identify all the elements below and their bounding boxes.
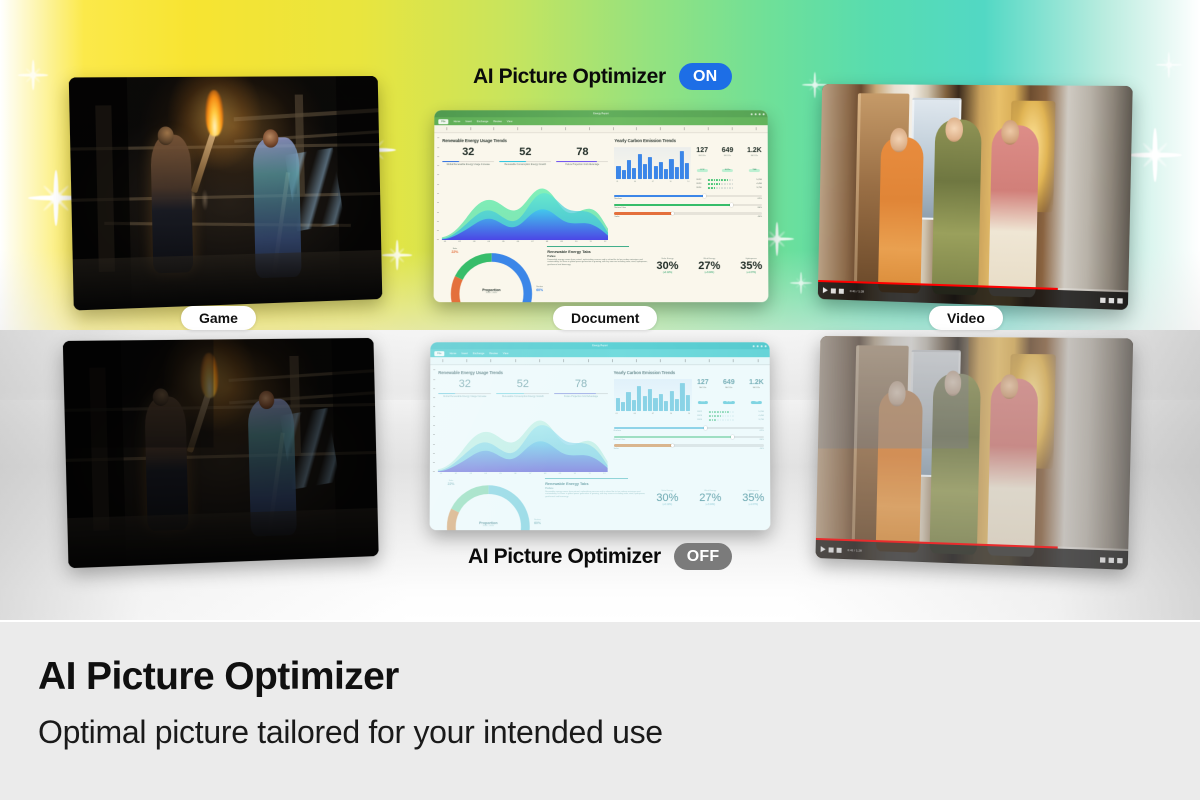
panel-game-off[interactable] bbox=[63, 338, 379, 568]
document-ribbon[interactable]: File Home Insert Exchange Review View bbox=[434, 117, 767, 125]
stat-label: MtCO2e bbox=[723, 387, 735, 389]
table-row: 2022 5,230 bbox=[697, 411, 764, 413]
window-controls[interactable] bbox=[753, 345, 767, 347]
table-row: 2024 3,730 bbox=[697, 419, 764, 421]
stat-chip: TSE bbox=[751, 401, 761, 404]
row-year: 2023 bbox=[697, 415, 706, 417]
carbon-top-row: 01 04 07 10 14 127 MtCO2e bbox=[614, 147, 762, 191]
stat-value: 1.2K bbox=[749, 379, 764, 386]
video-artwork-off: 0:41 / 1:28 bbox=[816, 336, 1134, 570]
document-bottom-row: Proportion 2024 - 2025 Solar 22% Natural… bbox=[430, 476, 771, 530]
panel-video-on[interactable]: 0:41 / 1:28 bbox=[818, 84, 1133, 310]
source-pct: 40% bbox=[758, 216, 762, 218]
status-badge-on: ON bbox=[679, 63, 732, 90]
document-left-column: Renewable Energy Usage Trends 32 Global … bbox=[442, 138, 609, 240]
table-row: 2023 4,430 bbox=[696, 183, 762, 185]
donut-subtitle: 2024 - 2025 bbox=[440, 525, 537, 527]
stat-value: 1.2K bbox=[747, 147, 762, 154]
slice-pct: 60% bbox=[536, 288, 543, 292]
section-title-carbon-trends: Yearly Carbon Emission Trends bbox=[614, 138, 761, 143]
section-title-usage-trends: Renewable Energy Usage Trends bbox=[438, 370, 607, 375]
document-ribbon[interactable]: File Home Insert Exchange Review View bbox=[430, 349, 769, 357]
category-pill-game: Game bbox=[181, 306, 256, 330]
stat-chip: SO2e bbox=[723, 401, 735, 404]
row-value: 3,730 bbox=[756, 187, 761, 189]
area-chart-axis: 01 02 03 04 05 06 07 08 09 10 11 12 bbox=[438, 473, 608, 475]
notes-percent-row: Solar Energy 30% (+0.12%) Wind Energy 27… bbox=[656, 488, 764, 506]
ribbon-tab-exchange[interactable]: Exchange bbox=[477, 120, 489, 123]
ribbon-tab-home[interactable]: Home bbox=[449, 352, 456, 355]
document-right-column: Yearly Carbon Emission Trends 01 bbox=[614, 138, 762, 240]
axis-tick: 07 bbox=[529, 473, 531, 475]
source-name: Natural Gas bbox=[614, 439, 626, 441]
document-dashboard-on: Energy Report File Home Insert Exchange … bbox=[434, 110, 769, 302]
document-window-title: Energy Report bbox=[592, 344, 607, 347]
axis-tick: 03 bbox=[470, 473, 472, 475]
axis-tick: 07 bbox=[652, 413, 654, 415]
document-ruler bbox=[434, 125, 767, 133]
axis-tick: 14 bbox=[687, 181, 689, 183]
stat-value: 127 bbox=[697, 379, 709, 386]
axis-tick: 03 bbox=[473, 241, 475, 243]
notes-title: Renewable Energy Tabs bbox=[547, 250, 762, 254]
percent-delta: (+0.12%) bbox=[656, 272, 678, 274]
notes-rule bbox=[547, 246, 629, 247]
panel-document-on[interactable]: Energy Report File Home Insert Exchange … bbox=[434, 110, 769, 302]
play-icon[interactable] bbox=[823, 288, 828, 294]
source-pct: 80% bbox=[760, 439, 764, 441]
axis-tick: 11 bbox=[588, 473, 590, 475]
axis-tick: 05 bbox=[499, 473, 501, 475]
area-chart-axis: 01 02 03 04 05 06 07 08 09 10 11 12 bbox=[442, 241, 609, 243]
stat-card: 1.2K MtCO2e TSE bbox=[747, 147, 762, 175]
axis-tick: 08 bbox=[544, 473, 546, 475]
source-pct: 80% bbox=[758, 207, 762, 209]
kpi-value: 32 bbox=[442, 147, 494, 159]
row-year: 2022 bbox=[697, 411, 706, 413]
emission-dot-table: 2022 5,230 2023 4,430 bbox=[696, 179, 762, 189]
fullscreen-icon[interactable] bbox=[1117, 298, 1122, 303]
percent-delta: (+3.04%) bbox=[699, 504, 721, 506]
stat-chip: SO2e bbox=[722, 169, 734, 172]
category-pill-video: Video bbox=[929, 306, 1003, 330]
table-row: 2023 4,430 bbox=[697, 415, 764, 417]
source-name: Solar bbox=[614, 216, 619, 218]
energy-source-sliders: Nuclear 62% Natural Gas 80% bbox=[614, 427, 764, 453]
row-year: 2022 bbox=[696, 179, 705, 181]
notes-card: Renewable Energy Tabs Preface Renewable … bbox=[545, 478, 764, 505]
game-artwork-off bbox=[63, 338, 379, 568]
kpi-card: 32 Global Renewable Energy Usage Increas… bbox=[438, 379, 491, 399]
ribbon-tab-insert[interactable]: Insert bbox=[465, 120, 471, 123]
page-subtitle: Optimal picture tailored for your intend… bbox=[38, 714, 663, 751]
ribbon-tab-exchange[interactable]: Exchange bbox=[473, 352, 485, 355]
area-chart-usage: 01 02 03 04 05 06 07 08 09 10 11 12 bbox=[438, 406, 608, 472]
area-chart-usage: 01 02 03 04 05 06 07 08 09 10 11 12 bbox=[442, 174, 609, 240]
donut-chart-proportion: Proportion 2024 - 2025 Solar 22% Natural… bbox=[443, 246, 539, 302]
toggle-label-off: AI Picture Optimizer bbox=[468, 545, 661, 569]
axis-tick: 06 bbox=[514, 473, 516, 475]
axis-tick: 04 bbox=[488, 241, 490, 243]
stat-chip: CO2 bbox=[698, 401, 708, 404]
bar-chart-carbon: 01 04 07 10 14 bbox=[614, 147, 691, 191]
kpi-card: 32 Global Renewable Energy Usage Increas… bbox=[442, 147, 494, 167]
percent-value: 30% bbox=[656, 492, 678, 504]
source-slider[interactable]: Nuclear 62% bbox=[614, 195, 762, 200]
percent-value: 35% bbox=[742, 492, 764, 504]
ribbon-tab-file[interactable]: File bbox=[438, 119, 448, 124]
panel-game-on[interactable] bbox=[69, 76, 383, 311]
stat-value: 127 bbox=[696, 147, 708, 154]
bar-chart-axis: 01 04 07 10 14 bbox=[614, 181, 691, 183]
percent-card: Wind Energy 27% (+3.04%) bbox=[698, 258, 720, 274]
slice-pct: 60% bbox=[534, 521, 541, 525]
notes-percent-row: Solar Energy 30% (+0.12%) Wind Energy 27… bbox=[656, 256, 762, 274]
row-value: 4,430 bbox=[758, 415, 763, 417]
axis-tick: 04 bbox=[634, 181, 636, 183]
axis-tick: 02 bbox=[455, 473, 457, 475]
axis-tick: 02 bbox=[458, 241, 460, 243]
row-year: 2023 bbox=[696, 183, 705, 185]
kpi-row: 32 Global Renewable Energy Usage Increas… bbox=[438, 379, 607, 399]
panel-document-off[interactable]: Energy Report File Home Insert Exchange … bbox=[430, 342, 771, 530]
next-icon[interactable] bbox=[831, 288, 836, 293]
document-left-column: Renewable Energy Usage Trends 32 Global … bbox=[438, 370, 608, 472]
notes-rule bbox=[545, 478, 628, 479]
percent-delta: (+1.07%) bbox=[742, 504, 764, 506]
axis-tick: 04 bbox=[484, 473, 486, 475]
promo-stage: AI Picture Optimizer ON bbox=[0, 0, 1200, 800]
stat-card: 127 MtCO2e CO2 bbox=[696, 147, 708, 175]
bar-chart-carbon: 01 04 07 10 14 bbox=[614, 379, 693, 423]
notes-body: Renewable energy comes from natural, rep… bbox=[547, 259, 650, 268]
stat-label: MtCO2e bbox=[696, 155, 708, 157]
settings-icon[interactable] bbox=[1109, 298, 1114, 303]
row-value: 3,730 bbox=[758, 419, 763, 421]
stat-card: 127 MtCO2e CO2 bbox=[697, 379, 709, 407]
panel-video-off[interactable]: 0:41 / 1:28 bbox=[816, 336, 1134, 570]
donut-label-solar: Solar 22% bbox=[451, 248, 458, 254]
ribbon-tab-file[interactable]: File bbox=[434, 351, 444, 356]
donut-label-nuclear: Nuclear 60% bbox=[536, 286, 543, 292]
source-slider[interactable]: Solar 40% bbox=[614, 212, 762, 217]
stat-label: MtCO2e bbox=[749, 387, 764, 389]
emission-dot-table: 2022 5,230 2023 4,430 bbox=[697, 411, 764, 421]
section-title-carbon-trends: Yearly Carbon Emission Trends bbox=[614, 370, 764, 375]
axis-tick: 11 bbox=[589, 241, 591, 243]
source-pct: 62% bbox=[758, 198, 762, 200]
source-pct: 62% bbox=[760, 430, 764, 432]
stat-value: 649 bbox=[723, 379, 735, 386]
subtitles-icon[interactable] bbox=[1100, 298, 1105, 303]
document-titlebar: Energy Report bbox=[430, 342, 769, 349]
percent-card: Solar Energy 30% (+0.12%) bbox=[656, 258, 678, 274]
source-slider[interactable]: Nuclear 62% bbox=[614, 427, 764, 432]
row-value: 5,230 bbox=[758, 411, 763, 413]
axis-tick: 09 bbox=[560, 241, 562, 243]
kpi-card: 78 Future Projection Grid Advantage bbox=[556, 147, 608, 167]
notes-text: Preface Renewable energy comes from natu… bbox=[545, 488, 650, 506]
donut-chart-proportion: Proportion 2024 - 2025 Solar 22% Natural… bbox=[439, 478, 537, 530]
axis-tick: 04 bbox=[634, 413, 636, 415]
percent-delta: (+3.04%) bbox=[698, 272, 720, 274]
axis-tick: 10 bbox=[574, 473, 576, 475]
axis-tick: 10 bbox=[575, 241, 577, 243]
axis-tick: 12 bbox=[604, 241, 606, 243]
kpi-caption: Renewable Consumption Energy Growth bbox=[496, 396, 549, 399]
donut-center-label: Proportion 2024 - 2025 bbox=[444, 288, 540, 294]
source-slider[interactable]: Natural Gas 80% bbox=[614, 204, 762, 209]
table-row: 2024 3,730 bbox=[696, 187, 762, 189]
percent-card: Hydropower 35% (+1.07%) bbox=[740, 258, 762, 274]
kpi-caption: Global Renewable Energy Usage Increase bbox=[442, 164, 494, 167]
volume-icon[interactable] bbox=[839, 289, 844, 294]
source-name: Natural Gas bbox=[614, 207, 626, 209]
donut-subtitle: 2024 - 2025 bbox=[444, 292, 540, 294]
bar-chart-axis: 01 04 07 10 14 bbox=[614, 413, 692, 415]
axis-tick: 10 bbox=[670, 181, 672, 183]
stat-label: MtCO2e bbox=[722, 155, 734, 157]
row-year: 2024 bbox=[696, 187, 705, 189]
stat-card: 1.2K MtCO2e TSE bbox=[749, 379, 764, 407]
axis-tick: 12 bbox=[603, 473, 605, 475]
document-window-title: Energy Report bbox=[593, 112, 608, 115]
ribbon-tab-view[interactable]: View bbox=[507, 120, 513, 123]
kpi-card: 78 Future Projection Grid Advantage bbox=[554, 379, 607, 399]
axis-tick: 07 bbox=[652, 181, 654, 183]
percent-card: Solar Energy 30% (+0.12%) bbox=[656, 490, 678, 506]
ribbon-tab-review[interactable]: Review bbox=[493, 120, 502, 123]
source-name: Solar bbox=[614, 448, 619, 450]
percent-card: Wind Energy 27% (+3.04%) bbox=[699, 490, 721, 506]
axis-tick: 01 bbox=[616, 181, 618, 183]
stat-label: MtCO2e bbox=[697, 387, 709, 389]
donut-label-nuclear: Nuclear 60% bbox=[534, 519, 541, 525]
document-dashboard-off: Energy Report File Home Insert Exchange … bbox=[430, 342, 771, 530]
section-title-usage-trends: Renewable Energy Usage Trends bbox=[442, 138, 608, 143]
toggle-label-on: AI Picture Optimizer bbox=[473, 65, 666, 89]
ribbon-tab-insert[interactable]: Insert bbox=[461, 352, 467, 355]
source-pct: 40% bbox=[760, 448, 764, 450]
ribbon-tab-review[interactable]: Review bbox=[489, 352, 498, 355]
document-right-column: Yearly Carbon Emission Trends 01 bbox=[614, 370, 765, 472]
ribbon-tab-view[interactable]: View bbox=[503, 352, 509, 355]
kpi-caption: Future Projection Grid Advantage bbox=[554, 396, 607, 399]
source-slider[interactable]: Natural Gas 80% bbox=[614, 436, 764, 441]
status-badge-off: OFF bbox=[674, 543, 733, 570]
kpi-row: 32 Global Renewable Energy Usage Increas… bbox=[442, 147, 608, 167]
donut-label-solar: Solar 22% bbox=[448, 480, 455, 486]
axis-tick: 06 bbox=[517, 241, 519, 243]
stat-chip: TSE bbox=[749, 169, 759, 172]
notes-body: Renewable energy comes from natural, rep… bbox=[545, 491, 650, 500]
kpi-caption: Global Renewable Energy Usage Increase bbox=[438, 396, 491, 399]
document-body: Renewable Energy Usage Trends 32 Global … bbox=[434, 133, 768, 244]
document-bottom-row: Proportion 2024 - 2025 Solar 22% Natural… bbox=[434, 244, 769, 302]
notes-card: Renewable Energy Tabs Preface Renewable … bbox=[547, 246, 762, 273]
axis-tick: 07 bbox=[531, 241, 533, 243]
percent-value: 27% bbox=[699, 492, 721, 504]
stat-card: 649 MtCO2e SO2e bbox=[722, 147, 734, 175]
notes-title: Renewable Energy Tabs bbox=[545, 482, 764, 486]
document-gutter bbox=[436, 133, 440, 244]
notes-text: Preface Renewable energy comes from natu… bbox=[547, 256, 650, 274]
document-body: Renewable Energy Usage Trends 32 Global … bbox=[430, 365, 770, 476]
donut-center-label: Proportion 2024 - 2025 bbox=[440, 521, 537, 527]
video-timestamp: 0:41 / 1:28 bbox=[850, 289, 864, 294]
slice-pct: 22% bbox=[451, 250, 458, 254]
source-name: Nuclear bbox=[614, 430, 622, 432]
document-titlebar: Energy Report bbox=[434, 110, 767, 117]
axis-tick: 14 bbox=[688, 413, 690, 415]
ai-picture-optimizer-on-toggle[interactable]: AI Picture Optimizer ON bbox=[473, 63, 732, 90]
caption-panel bbox=[0, 622, 1200, 800]
kpi-caption: Renewable Consumption Energy Growth bbox=[499, 164, 551, 167]
axis-tick: 08 bbox=[546, 241, 548, 243]
slice-pct: 22% bbox=[448, 482, 455, 486]
row-year: 2024 bbox=[697, 419, 706, 421]
axis-tick: 01 bbox=[440, 473, 442, 475]
kpi-value: 78 bbox=[556, 147, 608, 159]
axis-tick: 01 bbox=[444, 241, 446, 243]
document-ruler bbox=[430, 357, 769, 365]
video-artwork-on: 0:41 / 1:28 bbox=[818, 84, 1133, 310]
axis-tick: 10 bbox=[670, 413, 672, 415]
stat-chip: CO2 bbox=[697, 169, 707, 172]
row-value: 4,430 bbox=[756, 183, 761, 185]
stat-label: MtCO2e bbox=[747, 155, 762, 157]
percent-delta: (+0.12%) bbox=[656, 504, 678, 506]
kpi-value: 32 bbox=[438, 379, 491, 391]
kpi-value: 52 bbox=[499, 147, 551, 159]
percent-value: 35% bbox=[740, 260, 762, 272]
notes-heading: Preface bbox=[545, 488, 650, 490]
carbon-stats: 127 MtCO2e CO2 649 MtCO2e SO2e bbox=[696, 147, 762, 191]
carbon-stats: 127 MtCO2e CO2 649 MtCO2e SO2e bbox=[697, 379, 764, 423]
axis-tick: 09 bbox=[559, 473, 561, 475]
kpi-card: 52 Renewable Consumption Energy Growth bbox=[496, 379, 549, 399]
axis-tick: 05 bbox=[502, 241, 504, 243]
carbon-top-row: 01 04 07 10 14 127 MtCO2e bbox=[614, 379, 764, 423]
game-artwork-on bbox=[69, 76, 383, 311]
kpi-caption: Future Projection Grid Advantage bbox=[556, 164, 608, 167]
percent-delta: (+1.07%) bbox=[740, 272, 762, 274]
notes-heading: Preface bbox=[547, 256, 650, 258]
page-title: AI Picture Optimizer bbox=[38, 655, 399, 699]
percent-value: 27% bbox=[698, 260, 720, 272]
category-pill-document: Document bbox=[553, 306, 657, 330]
percent-value: 30% bbox=[656, 260, 678, 272]
stat-card: 649 MtCO2e SO2e bbox=[723, 379, 735, 407]
row-value: 5,230 bbox=[756, 179, 761, 181]
kpi-card: 52 Renewable Consumption Energy Growth bbox=[499, 147, 551, 167]
source-name: Nuclear bbox=[614, 198, 622, 200]
ribbon-tab-home[interactable]: Home bbox=[453, 120, 460, 123]
stat-value: 649 bbox=[722, 147, 734, 154]
kpi-value: 52 bbox=[496, 379, 549, 391]
ai-picture-optimizer-off-toggle[interactable]: AI Picture Optimizer OFF bbox=[468, 543, 732, 570]
table-row: 2022 5,230 bbox=[696, 179, 762, 181]
document-gutter bbox=[432, 365, 436, 476]
kpi-value: 78 bbox=[554, 379, 607, 391]
energy-source-sliders: Nuclear 62% Natural Gas 80% bbox=[614, 195, 762, 221]
axis-tick: 01 bbox=[616, 413, 618, 415]
source-slider[interactable]: Solar 40% bbox=[614, 444, 764, 449]
percent-card: Hydropower 35% (+1.07%) bbox=[742, 490, 764, 506]
window-controls[interactable] bbox=[751, 113, 765, 115]
